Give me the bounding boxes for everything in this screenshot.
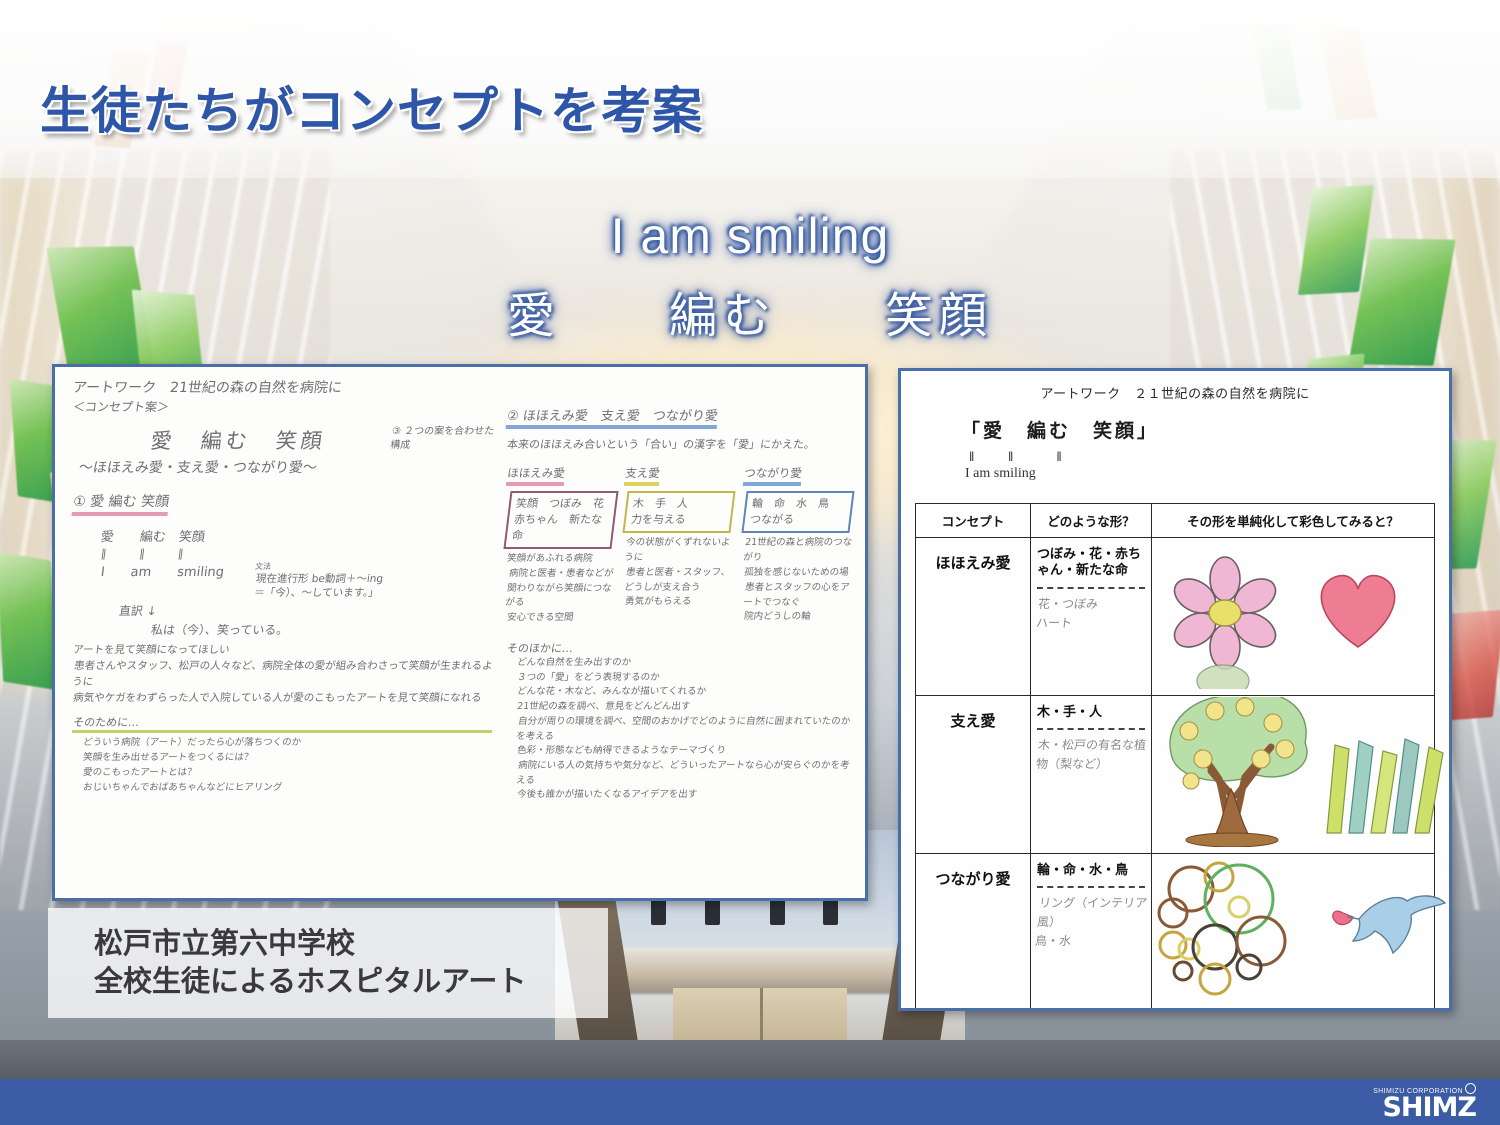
shape-typed: つぼみ・花・赤ちゃん・新たな命 [1037,546,1145,579]
left-note-concept-bullet: 勇気がもらえる [624,595,734,610]
shape-typed: 木・手・人 [1037,704,1145,720]
left-note-other-bullet: ３つの「愛」をどう表現するのか [516,671,853,686]
left-note-grammar-label: 文法 [254,561,383,572]
left-note-other-bullet: 色彩・形態なども納得できるようなテーマづくり [516,744,853,759]
cell-concept: 支え愛 [916,696,1031,854]
left-note-concept-keywords: 笑顔 つぼみ 花 赤ちゃん 新たな命 [503,491,618,549]
pencil-mark: ℓ [1448,745,1452,758]
right-sheet-inner: アートワーク ２１世紀の森の自然を病院に 「愛 編む 笑顔」 ‖ ‖ ‖ I a… [915,383,1435,996]
apple-tree-icon [1170,697,1307,847]
shape-typed: 輪・命・水・鳥 [1037,862,1145,878]
cell-shape: つぼみ・花・赤ちゃん・新たな命 花・つぼみ ハート [1031,538,1152,696]
left-note-column-right: ② ほほえみ愛 支え愛 つながり愛 本来のほほえみ合いという「合い」の漢字を「愛… [507,405,852,803]
left-handwritten-note[interactable]: アートワーク 21世紀の森の自然を病院に ＜コンセプト案＞ 愛 編む 笑顔 ～ほ… [52,364,868,901]
cell-drawing [1152,538,1435,696]
left-note-s1-eq-row: ‖ ‖ ‖ [100,545,494,561]
headline-japanese: 愛 編む 笑顔 [0,276,1500,346]
logo-wordmark: SHIMZ [1373,1095,1476,1121]
concept-table: コンセプト どのような形？ その形を単純化して彩色してみると？ ほほえみ愛 つぼ… [915,503,1435,1011]
table-row: 支え愛 木・手・人 木・松戸の有名な植物（梨など） [916,696,1435,854]
dashed-divider [1037,728,1145,730]
left-note-concept-column: 支え愛 木 手 人 力を与える 今の状態がくずれないように 患者と医者・スタッフ… [625,464,733,626]
left-note-other-bullet: 今後も誰かが描いたくなるアイデアを出す [516,788,853,803]
left-note-concept-heading: 支え愛 [624,465,661,486]
pink-heart-icon [1321,576,1394,647]
left-note-concept-heading: つながり愛 [742,465,802,486]
left-note-right-annotation: ③ ２つの案を合わせた構成 [389,425,500,453]
left-note-for-bullet: おじいちゃんでおばあちゃんなどにヒアリング [82,781,494,796]
green-grass-icon [1327,739,1443,833]
left-note-other-bullet: どんな花・木など、みんなが描いてくれるか [516,685,853,700]
left-note-concept-bullet: 患者とスタッフの心をアートでつなぐ [742,581,854,610]
shape-handwritten: 木・松戸の有名な植物（梨など） [1035,736,1147,774]
left-note-for-bullet: 愛のこもったアートとは？ [82,766,494,781]
footer-bar: SHIMIZU CORPORATION SHIMZ [0,1079,1500,1125]
left-note-other-bullet: どんな自然を生み出すのか [516,656,853,671]
cell-concept: ほほえみ愛 [916,538,1031,696]
company-name-small: SHIMIZU CORPORATION [1373,1082,1476,1095]
left-note-for-bullet: 笑顔を生み出せるアートをつくるには？ [82,751,494,766]
col-header-concept: コンセプト [916,504,1031,538]
left-note-concept-bullet: 笑顔があふれる病院 [506,552,616,567]
left-note-subtitle: ～ほほえみ愛・支え愛・つながり愛～ [78,457,494,477]
table-header-row: コンセプト どのような形？ その形を単純化して彩色してみると？ [916,504,1435,538]
right-sheet-eq-marks: ‖ ‖ ‖ [969,446,1435,465]
dashed-divider [1037,886,1145,888]
leaf-panel-icon [0,552,58,690]
right-concept-sheet[interactable]: アートワーク ２１世紀の森の自然を病院に 「愛 編む 笑顔」 ‖ ‖ ‖ I a… [898,368,1452,1011]
right-sheet-quote: 「愛 編む 笑顔」 [961,416,1435,443]
shape-handwritten: リング（インテリア風） 鳥・水 [1034,894,1148,952]
presentation-slide: 生徒たちがコンセプトを考案 I am smiling 愛 編む 笑顔 アートワー… [0,0,1500,1125]
left-note-s2-intro: 本来のほほえみ合いという「合い」の漢字を「愛」にかえた。 [506,437,853,454]
left-note-concept-bullet: 病院と医者・患者などが関わりながら笑顔につながる [504,567,618,611]
headline-english: I am smiling [0,208,1500,266]
cell-shape: 木・手・人 木・松戸の有名な植物（梨など） [1031,696,1152,854]
left-note-s1-en-row: I am smiling [100,561,252,580]
left-note-concept-heading: ほほえみ愛 [506,465,566,486]
drawing-tree-and-grass: ℓ [1153,697,1452,847]
cell-shape: 輪・命・水・鳥 リング（インテリア風） 鳥・水 [1031,854,1152,1012]
caption-line-2: 全校生徒によるホスピタルアート [94,963,608,1001]
cell-drawing: ℓ [1152,696,1435,854]
left-note-other-bullet: 自分が周りの環境を調べ、空間のおかげでどのように自然に囲まれていたのかを考える [515,715,854,744]
left-note-translate-text: 私は（今）、笑っている。 [150,621,494,638]
left-note-bullet: 病気やケガをわずらった人で入院している人が愛のこもったアートを見て笑顔になれる [72,691,494,707]
col-header-shape: どのような形？ [1031,504,1152,538]
left-note-concept-column: つながり愛 輪 命 水 鳥 つながる 21世紀の森と病院のつながり 孤独を感じな… [744,464,852,626]
logo-mark-icon [1465,1083,1476,1094]
left-note-translate-label: 直訳 ↓ [118,602,494,619]
shape-handwritten: 花・つぼみ ハート [1035,595,1147,633]
left-note-section2-label: ② ほほえみ愛 支え愛 つながり愛 [506,405,720,429]
left-note-other-bullet: 21世紀の森を調べ、意見をどんどん出す [516,700,853,715]
page-title: 生徒たちがコンセプトを考案 [40,86,703,136]
shimizu-logo: SHIMIZU CORPORATION SHIMZ [1373,1082,1476,1121]
left-note-other-bullet: 病院にいる人の気持ちや気分など、どういったアートなら心が安らぐのかを考える [515,759,854,788]
table-row: ほほえみ愛 つぼみ・花・赤ちゃん・新たな命 花・つぼみ ハート [916,538,1435,696]
drawing-flower-and-heart [1153,539,1452,689]
left-note-concept-column: ほほえみ愛 笑顔 つぼみ 花 赤ちゃん 新たな命 笑顔があふれる病院 病院と医者… [507,464,615,626]
cell-concept: つながり愛 [916,854,1031,1012]
flower-bud-icon [1197,665,1249,689]
school-caption-panel: 松戸市立第六中学校 全校生徒によるホスピタルアート [48,908,608,1018]
left-note-concept-keywords: 木 手 人 力を与える [623,491,736,533]
left-note-concept-bullet: 院内どうしの輪 [743,610,853,625]
blue-bird-icon [1333,896,1445,953]
overlapping-rings-icon [1159,863,1285,994]
left-note-concept-bullet: 患者と医者・スタッフ、どうしが支え合う [624,566,736,595]
left-note-for-bullet: どういう病院（アート）だったら心が落ちつくのか [82,736,494,751]
left-note-for-label: そのために… [72,714,494,733]
pink-flower-icon [1168,557,1281,669]
left-note-header-line2: ＜コンセプト案＞ [72,398,494,415]
left-note-section1-label: ① 愛 編む 笑顔 [71,491,170,516]
right-sheet-title: アートワーク ２１世紀の森の自然を病院に [915,383,1435,402]
left-note-concept-bullet: 孤独を感じないための場 [743,566,853,581]
left-note-concept-bullet: 安心できる空間 [506,611,616,626]
left-note-three-columns: ほほえみ愛 笑顔 つぼみ 花 赤ちゃん 新たな命 笑顔があふれる病院 病院と医者… [507,464,852,626]
left-note-bullet: アートを見て笑顔になってほしい [72,643,494,659]
left-note-concept-keywords: 輪 命 水 鳥 つながる [741,491,854,533]
right-sheet-english: I am smiling [965,466,1435,482]
left-note-other-label: そのほかに… [506,640,853,656]
left-note-concept-bullet: 今の状態がくずれないように [624,536,736,565]
left-note-grammar-text: 現在進行形 be動詞＋～ing ＝「今）、～しています。」 [253,572,384,600]
drawing-rings-and-bird [1153,855,1452,1005]
table-row: つながり愛 輪・命・水・鳥 リング（インテリア風） 鳥・水 [916,854,1435,1012]
caption-line-1: 松戸市立第六中学校 [94,925,608,963]
left-note-header-line1: アートワーク 21世紀の森の自然を病院に [72,377,494,397]
col-header-simplified: その形を単純化して彩色してみると？ [1152,504,1435,538]
dashed-divider [1037,587,1145,589]
cell-drawing [1152,854,1435,1012]
left-note-bullet: 患者さんやスタッフ、松戸の人々など、病院全体の愛が組み合わさって笑顔が生まれるよ… [71,659,495,691]
left-note-concept-bullet: 21世紀の森と病院のつながり [742,536,854,565]
headline-block: I am smiling 愛 編む 笑顔 [0,208,1500,346]
left-note-s1-jp-row: 愛 編む 笑顔 [100,526,494,545]
